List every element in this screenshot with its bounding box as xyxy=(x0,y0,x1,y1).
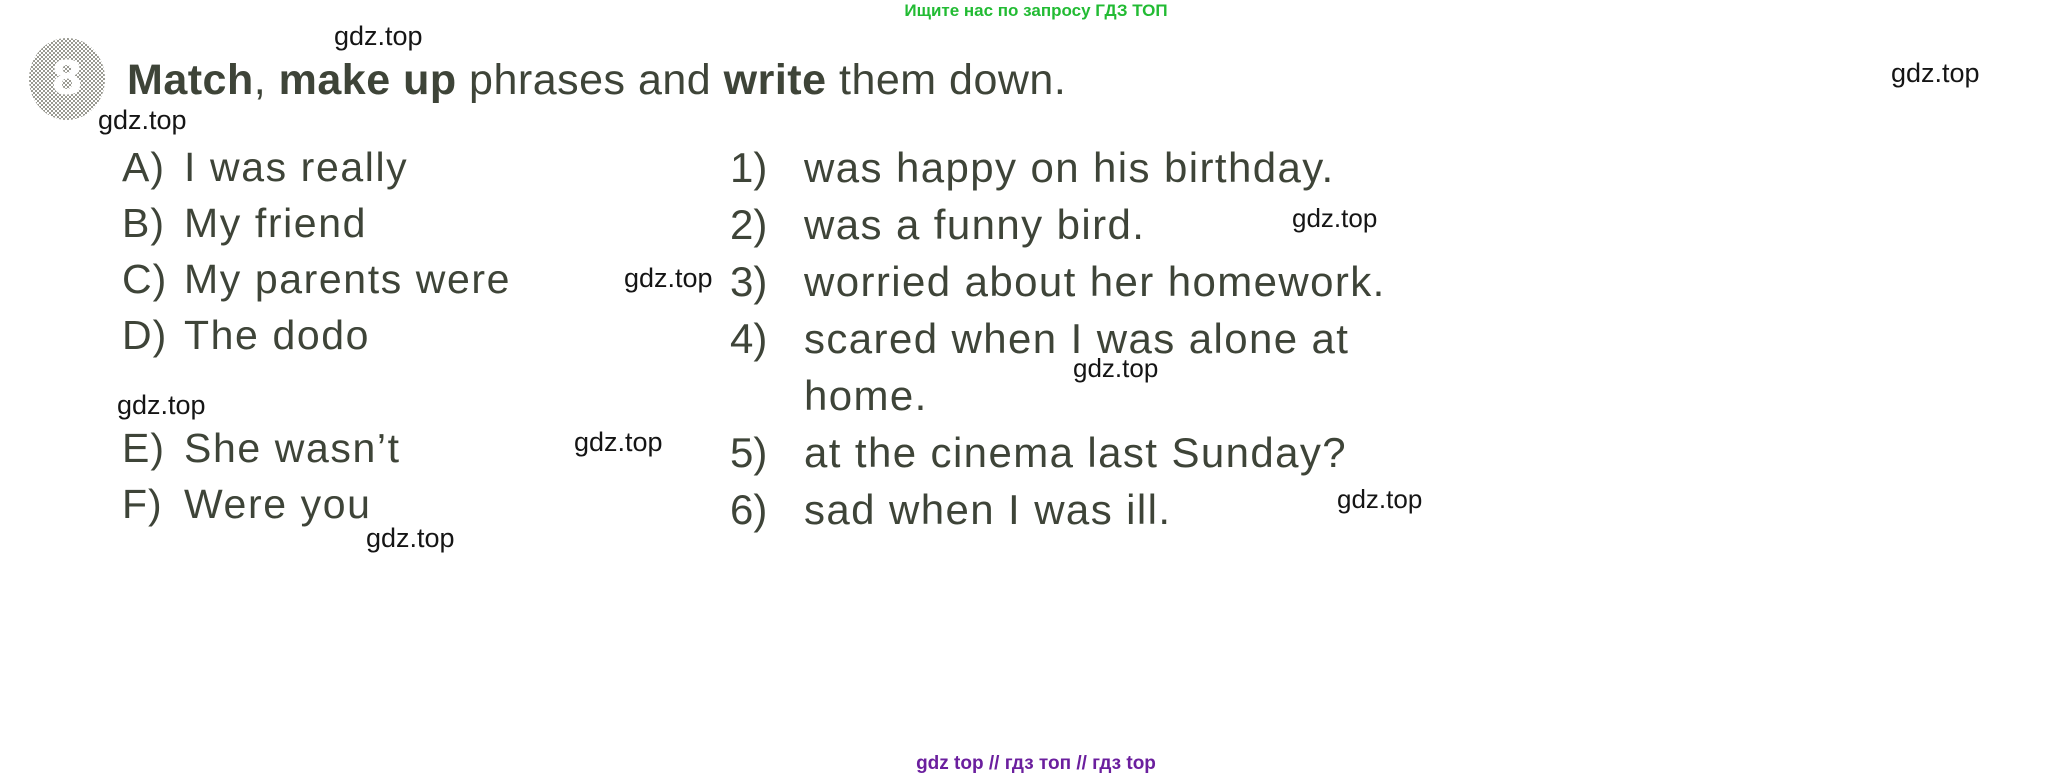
instruction-part-makeup: make up xyxy=(279,56,457,104)
instruction-line: Match, make up phrases and write them do… xyxy=(127,52,1066,108)
item-label: 6) xyxy=(730,481,804,538)
instruction-part-write: write xyxy=(724,56,827,104)
item-text: sad when I was ill. xyxy=(804,481,1171,538)
watermark: gdz.top xyxy=(366,523,455,553)
item-text: My friend xyxy=(184,195,367,251)
item-text: I was really xyxy=(184,139,408,195)
list-item[interactable]: 5) at the cinema last Sunday? xyxy=(730,424,2030,481)
item-text: My parents were xyxy=(184,251,511,307)
item-label: D) xyxy=(122,307,184,363)
list-item[interactable]: 3) worried about her homework. xyxy=(730,253,2030,310)
watermark: gdz.top xyxy=(117,390,206,420)
instruction-part-comma: , xyxy=(254,56,279,104)
right-column-list: 1) was happy on his birthday. 2) was a f… xyxy=(730,139,2030,538)
item-text: Were you xyxy=(184,476,372,532)
item-text: was happy on his birthday. xyxy=(804,139,1335,196)
left-column-list: A) I was really B) My friend C) My paren… xyxy=(122,139,742,532)
watermark: gdz.top xyxy=(98,105,187,135)
item-text: The dodo xyxy=(184,307,370,363)
item-text: at the cinema last Sunday? xyxy=(804,424,1347,481)
promo-bottom-banner: gdz top // гдз топ // гдз top xyxy=(0,753,2072,775)
item-text-continuation: home. xyxy=(730,367,2030,424)
list-item[interactable]: D) The dodo xyxy=(122,307,742,363)
list-item[interactable]: 4) scared when I was alone at xyxy=(730,310,2030,367)
exercise-number: 8 xyxy=(29,38,105,120)
item-text: worried about her homework. xyxy=(804,253,1386,310)
watermark: gdz.top xyxy=(334,21,423,51)
watermark: gdz.top xyxy=(1292,203,1377,233)
item-text: She wasn’t xyxy=(184,420,401,476)
exercise-number-badge: 8 xyxy=(29,38,105,120)
instruction-part-match: Match xyxy=(127,56,254,104)
worksheet-page: Ищите нас по запросу ГДЗ ТОП 8 Match, ma… xyxy=(0,0,2072,775)
item-text: was a funny bird. xyxy=(804,196,1145,253)
item-label: 3) xyxy=(730,253,804,310)
list-item[interactable]: 2) was a funny bird. xyxy=(730,196,2030,253)
watermark: gdz.top xyxy=(624,263,713,293)
instruction-part-themdown: them down. xyxy=(827,56,1067,104)
list-item[interactable]: B) My friend xyxy=(122,195,742,251)
watermark: gdz.top xyxy=(574,427,663,457)
item-label: 1) xyxy=(730,139,804,196)
watermark: gdz.top xyxy=(1891,58,1980,88)
list-item[interactable]: 1) was happy on his birthday. xyxy=(730,139,2030,196)
watermark: gdz.top xyxy=(1073,353,1158,383)
item-label: E) xyxy=(122,420,184,476)
watermark: gdz.top xyxy=(1337,484,1422,514)
item-label: A) xyxy=(122,139,184,195)
item-label: F) xyxy=(122,476,184,532)
item-label: 4) xyxy=(730,310,804,367)
item-label: C) xyxy=(122,251,184,307)
promo-top-banner: Ищите нас по запросу ГДЗ ТОП xyxy=(0,0,2072,22)
list-item[interactable]: A) I was really xyxy=(122,139,742,195)
item-label: 2) xyxy=(730,196,804,253)
instruction-part-phrases: phrases and xyxy=(457,56,724,104)
item-label: B) xyxy=(122,195,184,251)
item-label: 5) xyxy=(730,424,804,481)
